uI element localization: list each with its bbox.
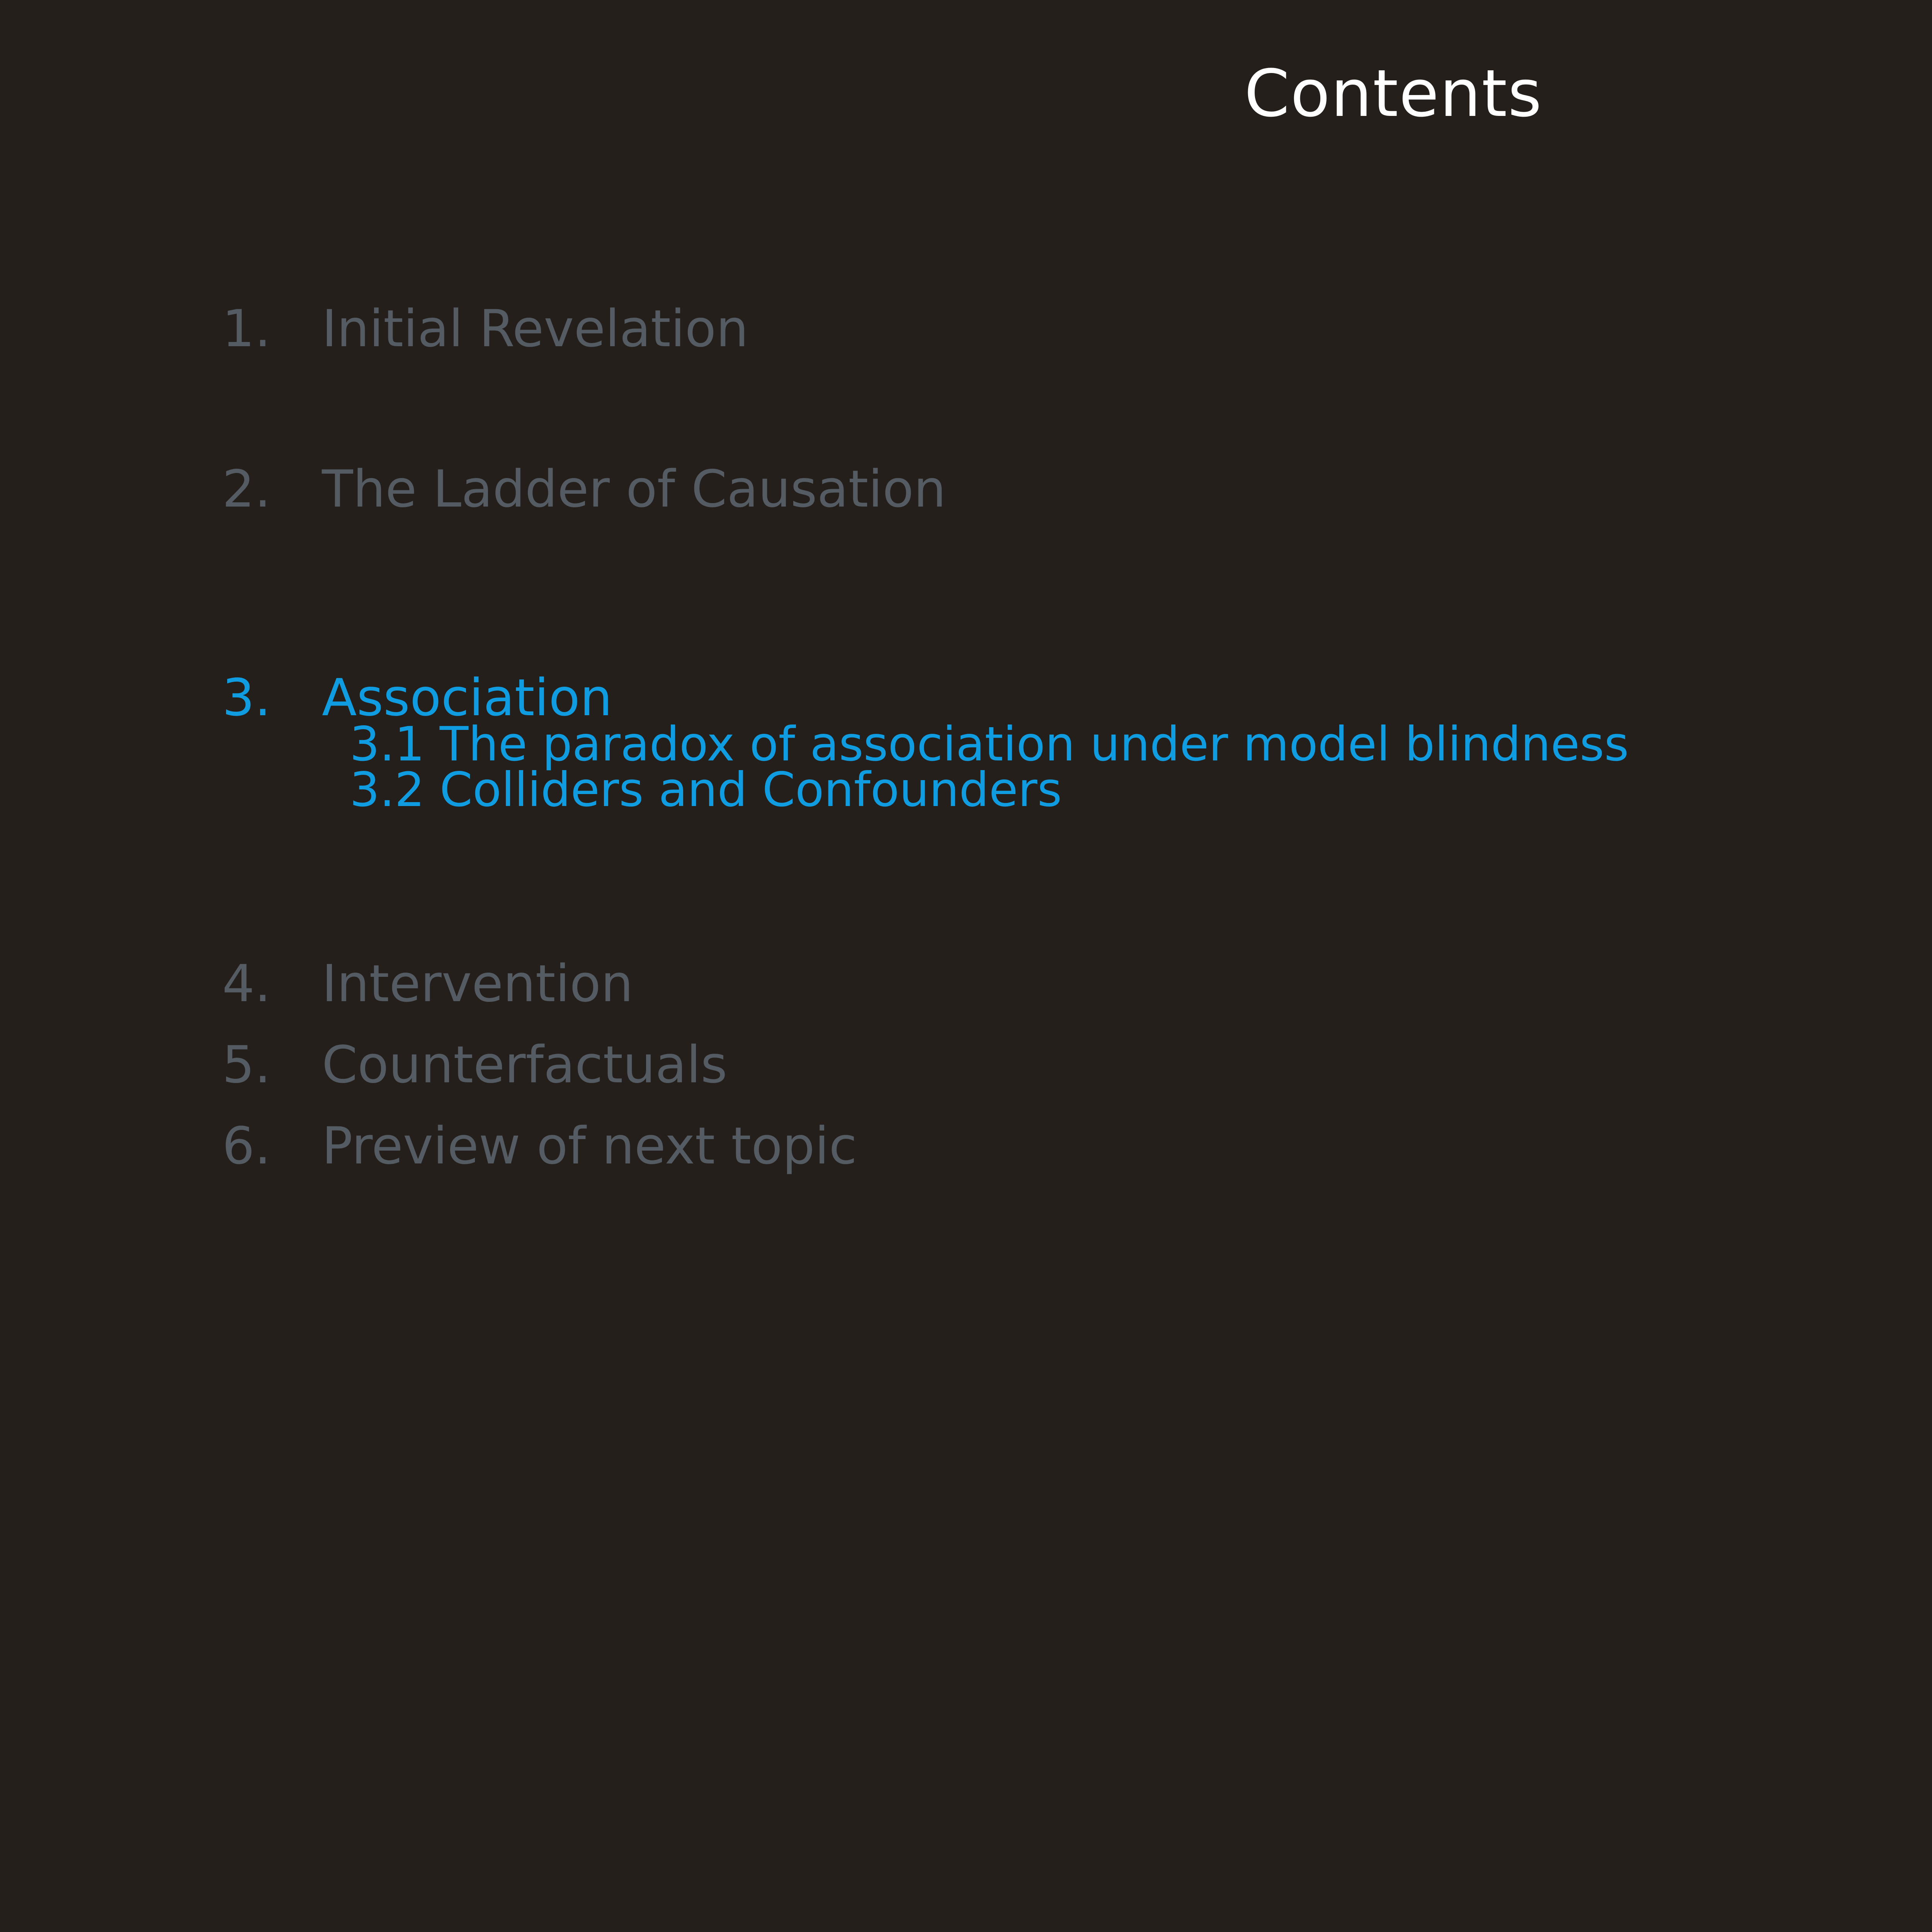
toc-section-item[interactable]: 3.Association bbox=[0, 672, 1932, 723]
toc-section-title: Intervention bbox=[322, 958, 633, 1009]
toc-section-item[interactable]: 4.Intervention bbox=[0, 958, 1932, 1009]
toc-section-item[interactable]: 1.Initial Revelation bbox=[0, 303, 1932, 354]
toc-section-number: 2. bbox=[0, 464, 322, 515]
toc-section-number: 6. bbox=[0, 1121, 322, 1172]
toc-section-title: Association bbox=[322, 672, 612, 723]
toc-subsection-title: Colliders and Confounders bbox=[425, 766, 1062, 813]
toc-section-number: 1. bbox=[0, 303, 322, 354]
toc-subsection-number: 3.2 bbox=[350, 766, 425, 813]
toc-section-item[interactable]: 5.Counterfactuals bbox=[0, 1039, 1932, 1090]
page-title: Contents bbox=[0, 58, 1932, 129]
toc-section-item[interactable]: 6.Preview of next topic bbox=[0, 1121, 1932, 1172]
toc-section-number: 3. bbox=[0, 672, 322, 723]
toc-section-title: Counterfactuals bbox=[322, 1039, 727, 1090]
toc-section-title: The Ladder of Causation bbox=[322, 464, 946, 515]
toc-section-item[interactable]: 2.The Ladder of Causation bbox=[0, 464, 1932, 515]
toc-subsection-item[interactable]: 3.1 The paradox of association under mod… bbox=[0, 721, 1932, 768]
toc-section-title: Preview of next topic bbox=[322, 1121, 857, 1172]
toc-section-number: 4. bbox=[0, 958, 322, 1009]
toc-subsection-number: 3.1 bbox=[350, 721, 425, 768]
toc-section-number: 5. bbox=[0, 1039, 322, 1090]
toc-section-title: Initial Revelation bbox=[322, 303, 748, 354]
toc-subsection-title: The paradox of association under model b… bbox=[425, 721, 1629, 768]
presentation-slide: Contents 1.Initial Revelation2.The Ladde… bbox=[0, 0, 1932, 1932]
toc-subsection-item[interactable]: 3.2 Colliders and Confounders bbox=[0, 766, 1932, 813]
